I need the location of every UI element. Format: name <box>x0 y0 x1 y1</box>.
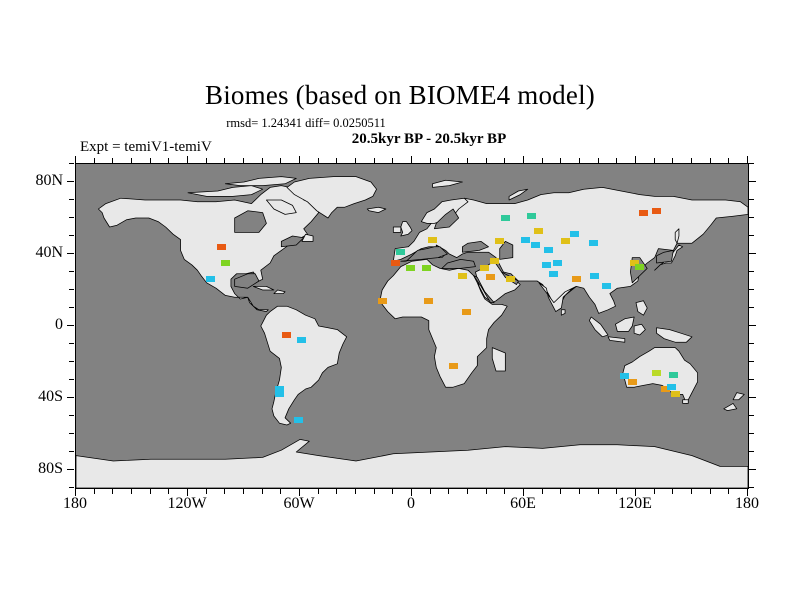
y-tick-right <box>749 235 754 236</box>
land-polygon <box>683 400 689 404</box>
x-tick <box>392 489 393 494</box>
x-tick <box>728 489 729 494</box>
y-tick <box>69 343 74 344</box>
biome-data-marker <box>462 309 471 315</box>
land-polygon <box>393 227 400 232</box>
x-tick <box>430 489 431 494</box>
x-tick-top <box>691 158 692 163</box>
y-tick <box>69 487 74 488</box>
y-tick <box>69 289 74 290</box>
biome-data-marker <box>217 244 226 250</box>
x-tick <box>206 489 207 494</box>
x-tick-top <box>728 158 729 163</box>
y-tick-right <box>749 433 754 434</box>
x-tick-top <box>262 158 263 163</box>
biome-data-marker <box>391 260 400 266</box>
biome-data-marker <box>561 238 570 244</box>
y-tick-right <box>749 343 754 344</box>
x-tick-top <box>616 158 617 163</box>
x-tick-top <box>280 158 281 163</box>
x-tick-top <box>206 158 207 163</box>
x-tick-top <box>430 158 431 163</box>
x-axis-tick-label: 0 <box>376 495 446 513</box>
biome-data-marker <box>406 265 415 271</box>
x-tick-top <box>560 158 561 163</box>
y-axis-tick-label: 80N <box>17 172 63 190</box>
world-map-plot <box>75 163 749 489</box>
y-tick <box>69 433 74 434</box>
biome-data-marker <box>206 276 215 282</box>
y-axis-tick-label: 0 <box>17 316 63 334</box>
x-tick <box>94 489 95 494</box>
x-axis-tick-label: 60W <box>264 495 334 513</box>
biome-data-marker <box>652 208 661 214</box>
biome-data-marker <box>428 237 437 243</box>
y-tick-right <box>749 217 754 218</box>
x-tick-top <box>299 156 300 163</box>
x-axis-tick-label: 180 <box>712 495 782 513</box>
y-tick-right <box>749 451 754 452</box>
x-tick <box>654 489 655 494</box>
x-tick-top <box>504 158 505 163</box>
x-tick <box>579 489 580 494</box>
biome-data-marker <box>506 276 515 282</box>
biome-data-marker <box>534 228 543 234</box>
x-tick <box>131 489 132 494</box>
biome-data-marker <box>667 384 676 390</box>
y-tick-right <box>749 397 756 398</box>
biome-data-marker <box>652 370 661 376</box>
experiment-label: Expt = temiV1-temiV <box>80 138 212 156</box>
x-tick <box>318 489 319 494</box>
y-tick <box>69 379 74 380</box>
y-tick <box>67 181 74 182</box>
y-tick-right <box>749 307 754 308</box>
x-tick-top <box>710 158 711 163</box>
biome-data-marker <box>531 242 540 248</box>
x-tick <box>467 489 468 494</box>
biome-data-marker <box>542 262 551 268</box>
y-tick-right <box>749 379 754 380</box>
x-tick-top <box>448 158 449 163</box>
biome-data-marker <box>490 258 499 264</box>
y-tick <box>69 163 74 164</box>
x-tick <box>336 489 337 494</box>
x-tick <box>691 489 692 494</box>
x-tick-top <box>374 158 375 163</box>
biome-data-marker <box>553 260 562 266</box>
biome-data-marker <box>602 283 611 289</box>
y-tick <box>69 199 74 200</box>
x-tick-top <box>486 158 487 163</box>
biome-data-marker <box>221 260 230 266</box>
x-tick <box>355 489 356 494</box>
biome-data-marker <box>480 265 489 271</box>
rmsd-stats-label: rmsd= 1.24341 diff= 0.0250511 <box>0 116 706 130</box>
chart-title: Biomes (based on BIOME4 model) <box>0 80 800 110</box>
x-tick <box>150 489 151 494</box>
x-tick <box>486 489 487 494</box>
x-tick-top <box>411 156 412 163</box>
biome-data-marker <box>572 276 581 282</box>
x-tick <box>112 489 113 494</box>
biome-data-marker <box>570 231 579 237</box>
x-tick-top <box>392 158 393 163</box>
x-tick-top <box>243 158 244 163</box>
x-axis-tick-label: 120E <box>600 495 670 513</box>
biome-data-marker <box>486 274 495 280</box>
x-tick-top <box>542 158 543 163</box>
x-tick-top <box>318 158 319 163</box>
y-tick-right <box>749 415 754 416</box>
x-axis-tick-label: 120W <box>152 495 222 513</box>
x-tick-top <box>598 158 599 163</box>
y-tick-right <box>749 325 756 326</box>
x-tick-top <box>355 158 356 163</box>
biome-data-marker <box>422 265 431 271</box>
x-tick <box>262 489 263 494</box>
y-tick-right <box>749 361 754 362</box>
biome-data-marker <box>378 298 387 304</box>
y-tick-right <box>749 469 756 470</box>
y-tick-right <box>749 253 756 254</box>
biome-data-marker <box>628 379 637 385</box>
biome-data-marker <box>424 298 433 304</box>
x-tick <box>672 489 673 494</box>
x-tick <box>560 489 561 494</box>
y-tick-right <box>749 163 754 164</box>
biome-data-marker <box>396 249 405 255</box>
x-tick <box>280 489 281 494</box>
figure-canvas: Biomes (based on BIOME4 model) rmsd= 1.2… <box>0 0 800 600</box>
biome-data-marker <box>521 237 530 243</box>
x-tick-top <box>635 156 636 163</box>
x-tick <box>243 489 244 494</box>
biome-data-marker <box>669 372 678 378</box>
biome-data-marker <box>294 417 303 423</box>
x-tick <box>598 489 599 494</box>
biome-data-marker <box>590 273 599 279</box>
x-tick <box>448 489 449 494</box>
biome-data-marker <box>495 238 504 244</box>
x-tick-top <box>654 158 655 163</box>
biome-data-marker <box>501 215 510 221</box>
x-tick-top <box>131 158 132 163</box>
y-axis-tick-label: 40N <box>17 244 63 262</box>
x-tick <box>224 489 225 494</box>
x-axis-tick-label: 180 <box>40 495 110 513</box>
biome-data-marker <box>635 264 644 270</box>
y-tick <box>69 451 74 452</box>
y-tick-right <box>749 271 754 272</box>
x-tick <box>616 489 617 494</box>
x-tick-top <box>150 158 151 163</box>
y-tick <box>67 325 74 326</box>
x-axis-tick-label: 60E <box>488 495 558 513</box>
y-tick <box>67 397 74 398</box>
y-tick-right <box>749 487 754 488</box>
biome-data-marker <box>549 271 558 277</box>
biome-data-marker <box>527 213 536 219</box>
x-tick <box>504 489 505 494</box>
x-tick <box>710 489 711 494</box>
x-tick-top <box>336 158 337 163</box>
x-tick-top <box>523 156 524 163</box>
y-tick <box>69 361 74 362</box>
x-tick <box>374 489 375 494</box>
biome-data-marker <box>589 240 598 246</box>
x-tick-top <box>672 158 673 163</box>
y-tick <box>69 271 74 272</box>
y-tick <box>69 235 74 236</box>
y-tick <box>69 217 74 218</box>
biome-data-marker <box>282 332 291 338</box>
x-tick-top <box>168 158 169 163</box>
biome-data-marker <box>449 363 458 369</box>
biome-data-marker <box>275 391 284 397</box>
x-tick-top <box>112 158 113 163</box>
biome-data-marker <box>671 391 680 397</box>
biome-data-marker <box>297 337 306 343</box>
y-tick <box>69 307 74 308</box>
y-axis-tick-label: 40S <box>17 388 63 406</box>
y-tick <box>67 253 74 254</box>
y-tick-right <box>749 181 756 182</box>
x-tick-top <box>467 158 468 163</box>
biome-data-marker <box>544 247 553 253</box>
x-tick <box>168 489 169 494</box>
biome-data-marker <box>639 210 648 216</box>
y-tick <box>67 469 74 470</box>
x-tick-top <box>747 156 748 163</box>
y-axis-tick-label: 80S <box>17 460 63 478</box>
x-tick-top <box>94 158 95 163</box>
x-tick <box>542 489 543 494</box>
y-tick <box>69 415 74 416</box>
x-tick-top <box>75 156 76 163</box>
biome-data-marker <box>458 273 467 279</box>
x-tick-top <box>224 158 225 163</box>
x-tick-top <box>579 158 580 163</box>
y-tick-right <box>749 199 754 200</box>
y-tick-right <box>749 289 754 290</box>
x-tick-top <box>187 156 188 163</box>
